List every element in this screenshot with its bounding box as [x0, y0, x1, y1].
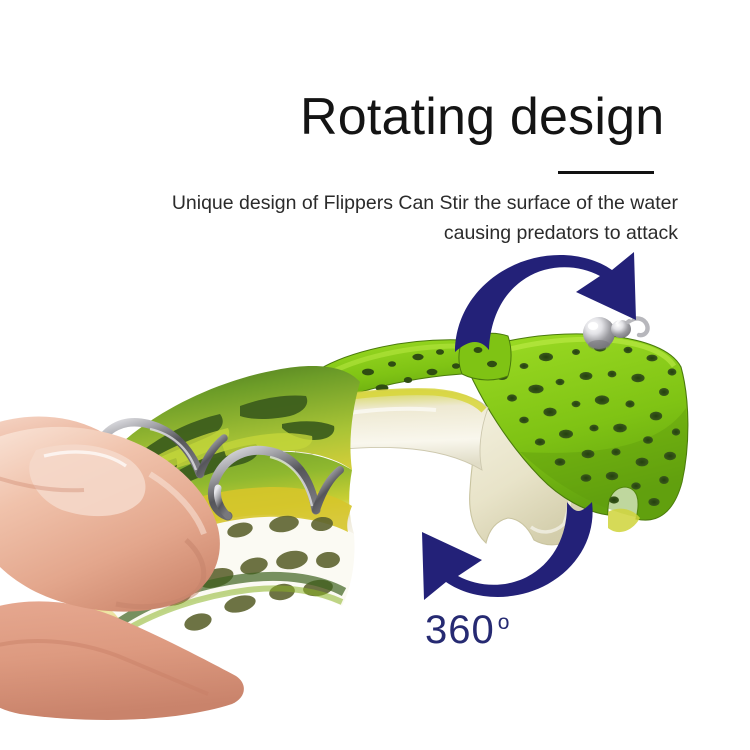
rotation-arrow-clockwise-top: [455, 252, 636, 352]
rotation-arrow-clockwise-bottom: [422, 502, 593, 600]
product-feature-image: Rotating design Unique design of Flipper…: [0, 0, 750, 750]
rotation-arrow-group: [0, 0, 750, 750]
